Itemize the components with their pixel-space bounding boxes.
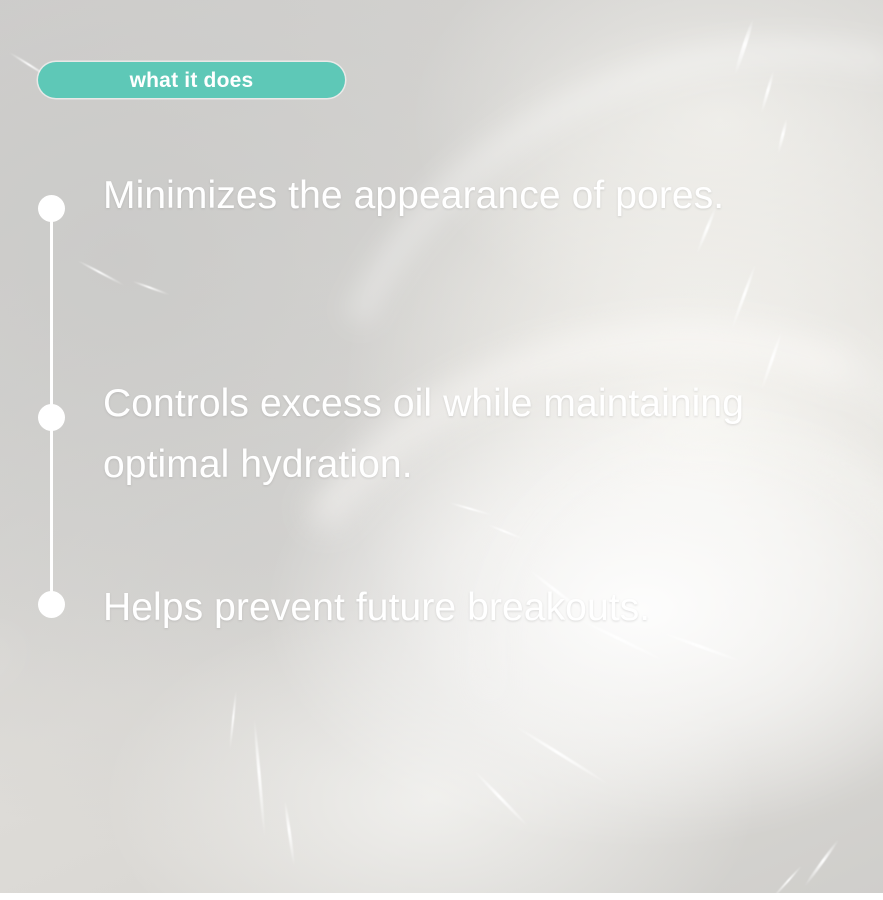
promo-card: what it does Minimizes the appearance of… xyxy=(0,0,883,900)
bottom-edge-strip xyxy=(0,893,883,900)
benefit-item: Controls excess oil while maintaining op… xyxy=(103,373,843,495)
benefit-item: Minimizes the appearance of pores. xyxy=(103,165,843,226)
benefit-item: Helps prevent future breakouts. xyxy=(103,577,843,638)
benefit-list: Minimizes the appearance of pores. Contr… xyxy=(103,0,863,900)
